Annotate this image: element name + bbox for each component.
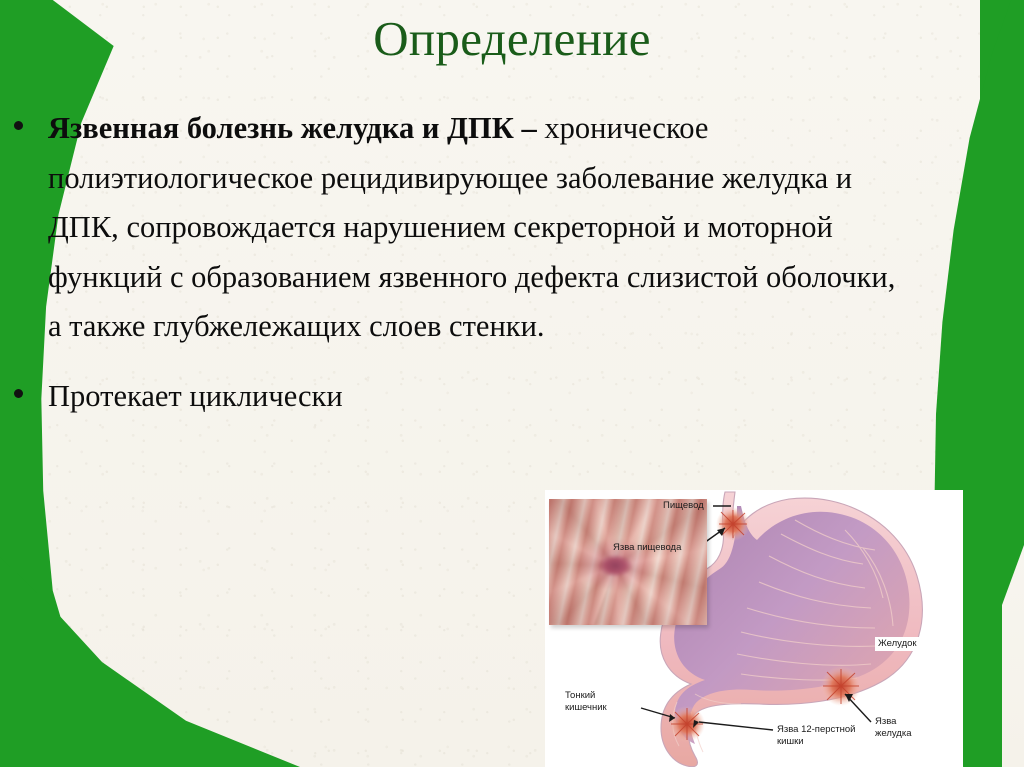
list-item: Язвенная болезнь желудка и ДПК – хрониче…: [14, 104, 914, 352]
page-title: Определение: [0, 13, 1024, 64]
list-item: Протекает циклически: [14, 372, 914, 422]
leader-duodenal-ulcer: [699, 722, 773, 730]
label-duodenal-ulcer-line-2: кишки: [777, 736, 804, 747]
bullet-dot-icon: [14, 389, 23, 398]
label-small-intestine: Тонкий кишечник: [565, 690, 607, 713]
label-gastric-ulcer-line-1: Язва: [875, 716, 896, 727]
label-gastric-ulcer-line-2: желудка: [875, 728, 912, 739]
slide: Определение Язвенная болезнь желудка и Д…: [0, 0, 1024, 767]
inset-vignette: [549, 499, 707, 625]
duodenal-ulcer-mark: [669, 706, 705, 742]
label-small-intestine-line-2: кишечник: [565, 702, 607, 713]
bullet-1-text: Язвенная болезнь желудка и ДПК – хрониче…: [14, 104, 914, 302]
gastric-ulcer-mark: [821, 666, 861, 706]
bullet-1-line-5: дефекта слизистой оболочки,: [515, 260, 896, 294]
bullet-1-line-3: сопровождается нарушением секреторной и: [126, 210, 699, 244]
label-duodenal-ulcer-line-1: Язва 12-перстной: [777, 724, 855, 735]
bullet-1-lead: Язвенная болезнь желудка и ДПК –: [48, 111, 544, 145]
anatomy-figure: Пищевод Язва пищевода Желудок Язва желуд…: [545, 490, 963, 767]
label-esophagus: Пищевод: [663, 500, 704, 512]
bullet-1-continuation: а также глубжележащих слоев стенки.: [14, 302, 914, 352]
gastric-mucosa-endoscopy-inset: [549, 499, 707, 625]
label-duodenal-ulcer: Язва 12-перстной кишки: [777, 724, 855, 747]
bullet-2-text: Протекает циклически: [14, 372, 914, 422]
content-body: Язвенная болезнь желудка и ДПК – хрониче…: [14, 104, 914, 421]
stomach-lumen: [674, 506, 909, 744]
bullet-dot-icon: [14, 121, 23, 130]
esophageal-ulcer-mark: [716, 507, 750, 541]
label-stomach: Желудок: [875, 637, 920, 651]
label-gastric-ulcer: Язва желудка: [875, 716, 912, 739]
label-esophageal-ulcer: Язва пищевода: [613, 542, 681, 554]
label-small-intestine-line-1: Тонкий: [565, 690, 595, 701]
